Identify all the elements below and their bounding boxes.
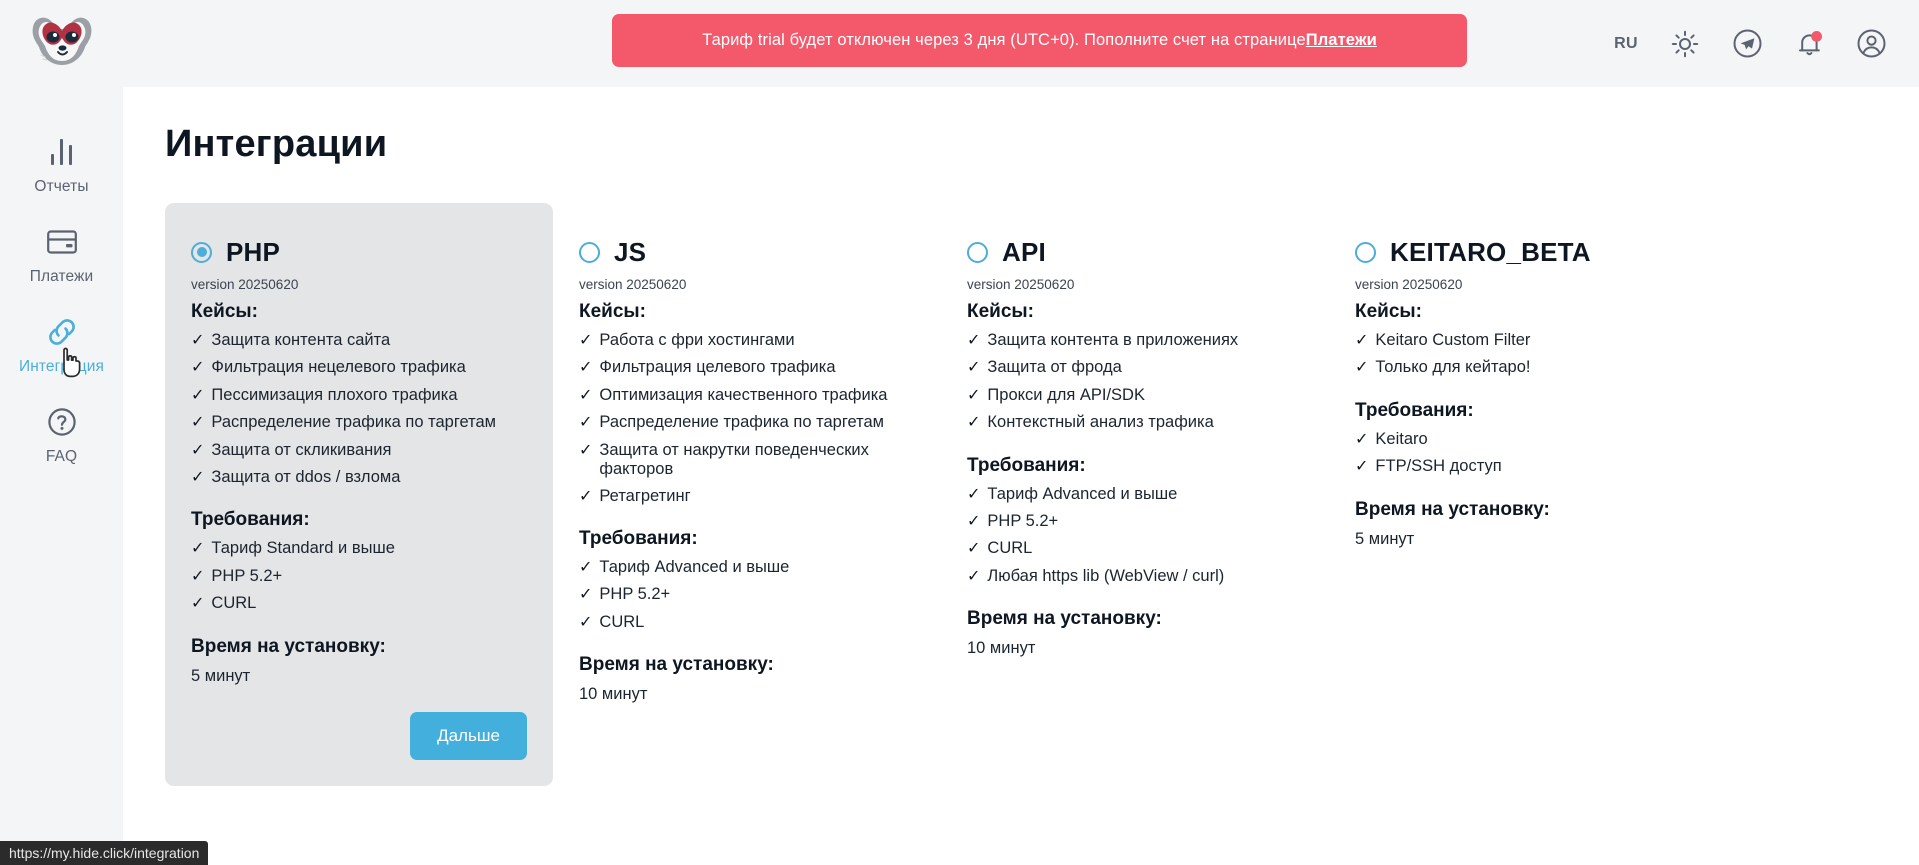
app-root: Отчеты Платежи (0, 0, 1919, 865)
feature-label: Распределение трафика по таргетам (599, 413, 884, 432)
question-circle-icon (45, 405, 79, 439)
section-title-install-time: Время на установку: (1355, 499, 1691, 521)
feature-label: Ретагретинг (599, 487, 690, 506)
feature-item: ✓Защита от ddos / взлома (191, 468, 527, 487)
feature-item: ✓Пессимизация плохого трафика (191, 386, 527, 405)
install-time-value: 5 минут (191, 667, 527, 686)
feature-item: ✓Оптимизация качественного трафика (579, 386, 915, 405)
radio-button[interactable] (967, 242, 988, 263)
feature-item: ✓Keitaro (1355, 430, 1691, 449)
install-time-value: 10 минут (967, 639, 1303, 658)
section-title-install-time: Время на установку: (967, 608, 1303, 630)
browser-status-bar: https://my.hide.click/integration (0, 841, 208, 865)
main-content: Интеграции PHPversion 20250620Кейсы:✓Защ… (123, 87, 1919, 865)
card-version: version 20250620 (967, 277, 1303, 292)
card-title: KEITARO_BETA (1390, 237, 1591, 268)
section-title-cases: Кейсы: (967, 301, 1303, 323)
check-icon: ✓ (1355, 332, 1368, 350)
feature-label: Прокси для API/SDK (987, 386, 1145, 405)
sidebar-item-platezhi[interactable]: Платежи (0, 210, 123, 300)
sidebar-item-integraciya[interactable]: Интеграция (0, 300, 123, 390)
link-icon (45, 315, 79, 349)
card-header: API (967, 237, 1303, 267)
feature-item: ✓Защита контента сайта (191, 331, 527, 350)
feature-label: Фильтрация целевого трафика (599, 358, 835, 377)
check-icon: ✓ (579, 488, 592, 506)
feature-label: Только для кейтаро! (1375, 358, 1530, 377)
feature-label: Защита от скликивания (211, 441, 391, 460)
feature-label: Защита от ddos / взлома (211, 468, 400, 487)
raccoon-logo[interactable] (26, 10, 98, 72)
check-icon: ✓ (579, 559, 592, 577)
feature-item: ✓Работа с фри хостингами (579, 331, 915, 350)
feature-item: ✓Тариф Advanced и выше (967, 485, 1303, 504)
feature-label: Keitaro Custom Filter (1375, 331, 1530, 350)
feature-label: Тариф Advanced и выше (599, 558, 789, 577)
integration-card[interactable]: JSversion 20250620Кейсы:✓Работа с фри хо… (553, 203, 941, 730)
feature-item: ✓PHP 5.2+ (579, 585, 915, 604)
feature-item: ✓CURL (967, 539, 1303, 558)
feature-label: PHP 5.2+ (987, 512, 1058, 531)
sidebar-item-faq[interactable]: FAQ (0, 390, 123, 480)
bar-chart-icon (45, 135, 79, 169)
feature-label: CURL (599, 613, 644, 632)
check-icon: ✓ (191, 540, 204, 558)
check-icon: ✓ (967, 568, 980, 586)
status-url: https://my.hide.click/integration (9, 845, 199, 861)
feature-item: ✓PHP 5.2+ (967, 512, 1303, 531)
telegram-icon[interactable] (1732, 29, 1762, 59)
sidebar-item-otchety[interactable]: Отчеты (0, 120, 123, 210)
feature-item: ✓CURL (579, 613, 915, 632)
feature-label: Тариф Advanced и выше (987, 485, 1177, 504)
language-switcher[interactable]: RU (1614, 35, 1638, 53)
check-icon: ✓ (579, 614, 592, 632)
feature-label: CURL (211, 594, 256, 613)
feature-item: ✓Защита контента в приложениях (967, 331, 1303, 350)
feature-item: ✓Защита от накрутки поведенческих фактор… (579, 441, 915, 479)
feature-item: ✓CURL (191, 594, 527, 613)
section-title-cases: Кейсы: (191, 301, 527, 323)
section-title-install-time: Время на установку: (191, 636, 527, 658)
feature-label: Защита от фрода (987, 358, 1121, 377)
feature-item: ✓Тариф Advanced и выше (579, 558, 915, 577)
check-icon: ✓ (191, 332, 204, 350)
feature-item: ✓Фильтрация целевого трафика (579, 358, 915, 377)
check-icon: ✓ (967, 540, 980, 558)
check-icon: ✓ (967, 414, 980, 432)
check-icon: ✓ (579, 332, 592, 350)
feature-label: Защита контента сайта (211, 331, 390, 350)
check-icon: ✓ (1355, 431, 1368, 449)
feature-item: ✓Защита от скликивания (191, 441, 527, 460)
card-title: JS (614, 237, 646, 268)
feature-item: ✓PHP 5.2+ (191, 567, 527, 586)
install-time-value: 5 минут (1355, 530, 1691, 549)
top-header: Тариф trial будет отключен через 3 дня (… (123, 0, 1919, 87)
sun-icon[interactable] (1670, 29, 1700, 59)
feature-label: Распределение трафика по таргетам (211, 413, 496, 432)
check-icon: ✓ (191, 414, 204, 432)
integration-card[interactable]: KEITARO_BETAversion 20250620Кейсы:✓Keita… (1329, 203, 1717, 575)
check-icon: ✓ (1355, 458, 1368, 476)
feature-item: ✓Keitaro Custom Filter (1355, 331, 1691, 350)
feature-item: ✓Распределение трафика по таргетам (579, 413, 915, 432)
check-icon: ✓ (967, 513, 980, 531)
radio-button[interactable] (1355, 242, 1376, 263)
sidebar: Отчеты Платежи (0, 0, 123, 865)
check-icon: ✓ (191, 387, 204, 405)
sidebar-item-label: Отчеты (34, 178, 88, 196)
feature-label: Keitaro (1375, 430, 1427, 449)
section-title-cases: Кейсы: (579, 301, 915, 323)
card-title: API (1002, 237, 1046, 268)
check-icon: ✓ (967, 486, 980, 504)
check-icon: ✓ (191, 359, 204, 377)
check-icon: ✓ (967, 359, 980, 377)
feature-item: ✓FTP/SSH доступ (1355, 457, 1691, 476)
check-icon: ✓ (1355, 359, 1368, 377)
feature-label: Любая https lib (WebView / curl) (987, 567, 1224, 586)
card-header: PHP (191, 237, 527, 267)
feature-label: FTP/SSH доступ (1375, 457, 1501, 476)
sidebar-item-label: FAQ (46, 448, 77, 466)
feature-item: ✓Только для кейтаро! (1355, 358, 1691, 377)
user-account-icon[interactable] (1856, 29, 1886, 59)
install-time-value: 10 минут (579, 685, 915, 704)
section-title-requirements: Требования: (191, 509, 527, 531)
feature-label: Оптимизация качественного трафика (599, 386, 887, 405)
sidebar-nav: Отчеты Платежи (0, 120, 123, 480)
card-header: KEITARO_BETA (1355, 237, 1691, 267)
header-tools: RU (1614, 0, 1886, 87)
radio-button[interactable] (579, 242, 600, 263)
feature-label: Защита контента в приложениях (987, 331, 1238, 350)
feature-label: Тариф Standard и выше (211, 539, 394, 558)
check-icon: ✓ (967, 387, 980, 405)
sidebar-item-label: Интеграция (19, 358, 104, 376)
card-version: version 20250620 (191, 277, 527, 292)
check-icon: ✓ (191, 469, 204, 487)
feature-label: PHP 5.2+ (211, 567, 282, 586)
card-title: PHP (226, 237, 280, 268)
feature-item: ✓Ретагретинг (579, 487, 915, 506)
section-title-install-time: Время на установку: (579, 654, 915, 676)
integration-card[interactable]: PHPversion 20250620Кейсы:✓Защита контент… (165, 203, 553, 786)
trial-warning-banner: Тариф trial будет отключен через 3 дня (… (612, 14, 1467, 67)
feature-label: Фильтрация нецелевого трафика (211, 358, 465, 377)
check-icon: ✓ (579, 359, 592, 377)
banner-payments-link[interactable]: Платежи (1306, 31, 1377, 50)
check-icon: ✓ (579, 387, 592, 405)
sidebar-item-label: Платежи (30, 268, 94, 286)
check-icon: ✓ (967, 332, 980, 350)
feature-label: Контекстный анализ трафика (987, 413, 1213, 432)
feature-label: Работа с фри хостингами (599, 331, 794, 350)
section-title-cases: Кейсы: (1355, 301, 1691, 323)
feature-item: ✓Любая https lib (WebView / curl) (967, 567, 1303, 586)
card-version: version 20250620 (1355, 277, 1691, 292)
feature-item: ✓Фильтрация нецелевого трафика (191, 358, 527, 377)
credit-card-icon (45, 225, 79, 259)
check-icon: ✓ (191, 442, 204, 460)
feature-item: ✓Распределение трафика по таргетам (191, 413, 527, 432)
bell-icon[interactable] (1794, 29, 1824, 59)
radio-button[interactable] (191, 242, 212, 263)
check-icon: ✓ (191, 595, 204, 613)
section-title-requirements: Требования: (1355, 400, 1691, 422)
feature-label: Защита от накрутки поведенческих факторо… (599, 441, 915, 479)
card-version: version 20250620 (579, 277, 915, 292)
check-icon: ✓ (191, 568, 204, 586)
feature-label: CURL (987, 539, 1032, 558)
feature-label: PHP 5.2+ (599, 585, 670, 604)
feature-item: ✓Защита от фрода (967, 358, 1303, 377)
banner-text: Тариф trial будет отключен через 3 дня (… (702, 31, 1306, 50)
page-title: Интеграции (165, 123, 1919, 166)
section-title-requirements: Требования: (967, 455, 1303, 477)
feature-label: Пессимизация плохого трафика (211, 386, 457, 405)
section-title-requirements: Требования: (579, 528, 915, 550)
feature-item: ✓Тариф Standard и выше (191, 539, 527, 558)
check-icon: ✓ (579, 414, 592, 432)
feature-item: ✓Прокси для API/SDK (967, 386, 1303, 405)
integration-card[interactable]: APIversion 20250620Кейсы:✓Защита контент… (941, 203, 1329, 684)
feature-item: ✓Контекстный анализ трафика (967, 413, 1303, 432)
card-header: JS (579, 237, 915, 267)
check-icon: ✓ (579, 586, 592, 604)
integration-cards: PHPversion 20250620Кейсы:✓Защита контент… (123, 203, 1919, 786)
check-icon: ✓ (579, 442, 592, 460)
next-button[interactable]: Дальше (410, 712, 527, 760)
